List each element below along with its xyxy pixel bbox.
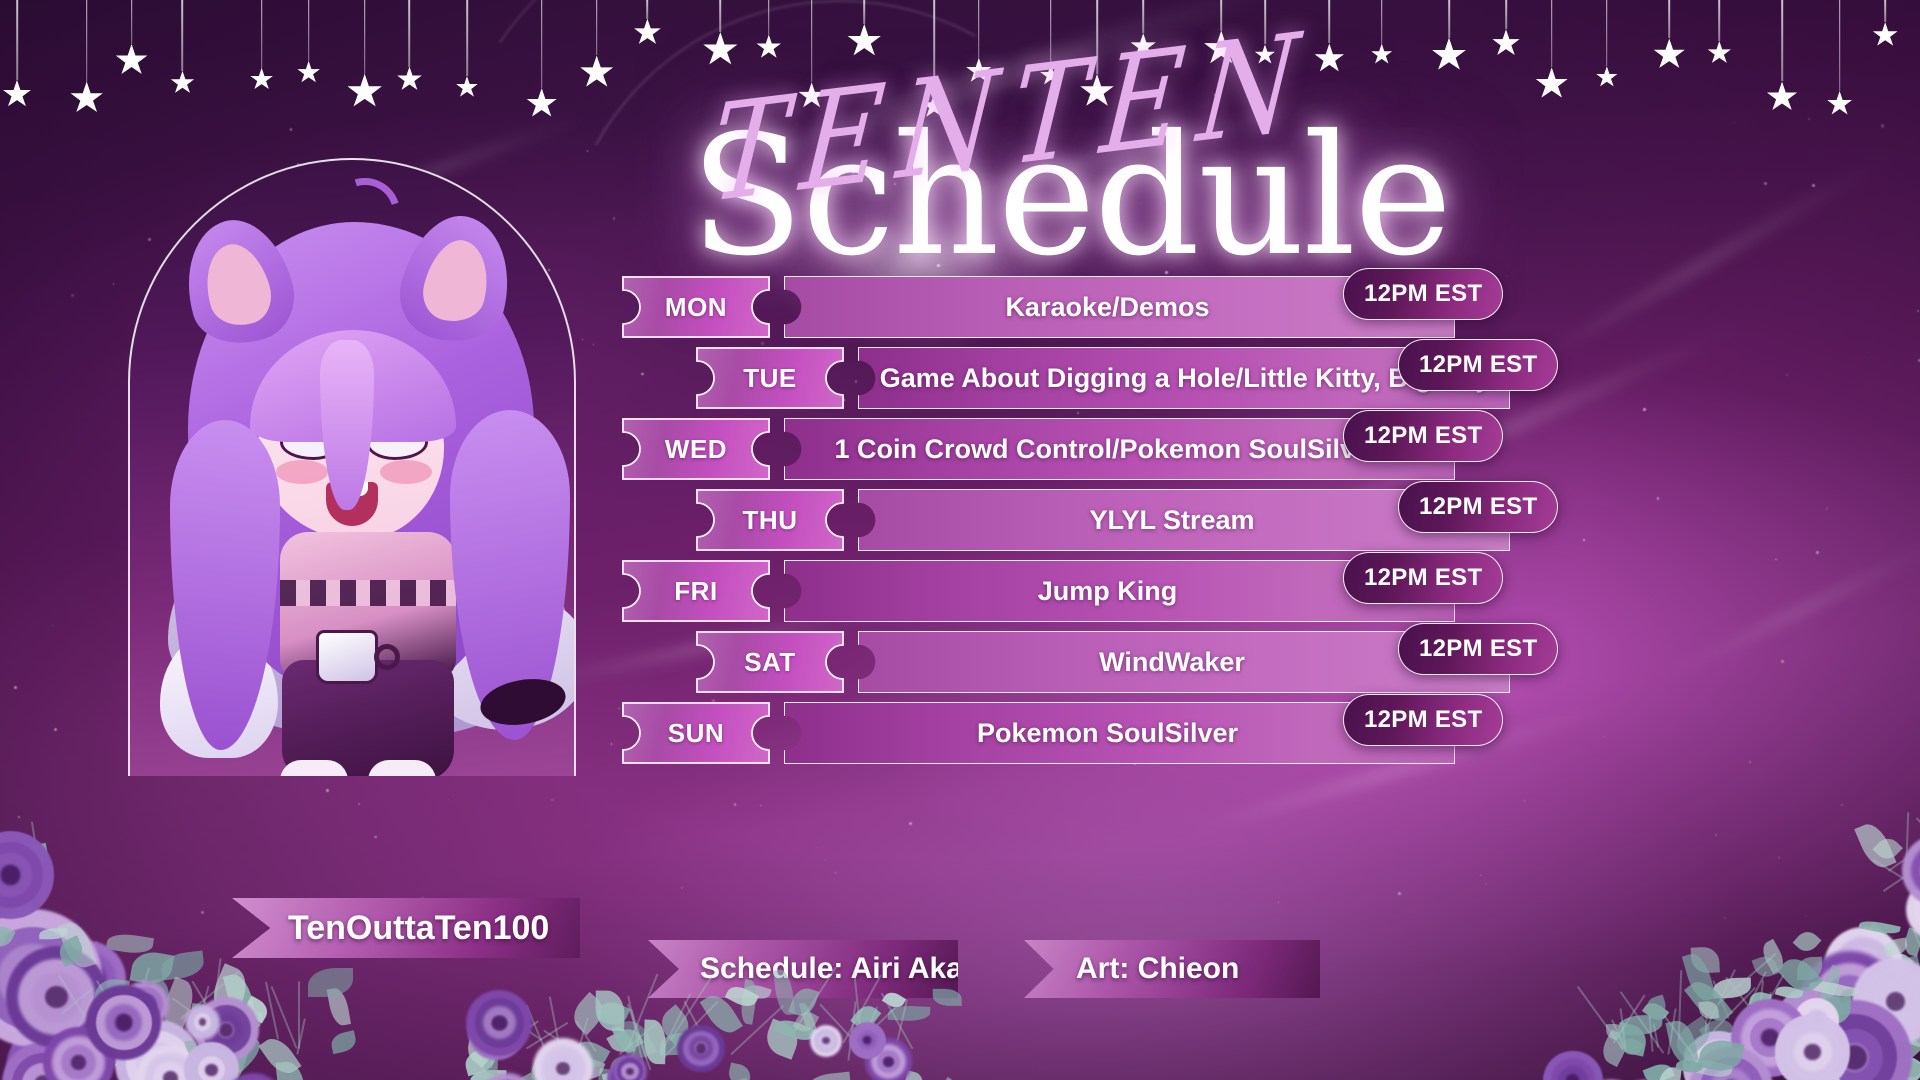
schedule-graphic: TenOuttaTen100 Schedule TENTEN MONKaraok… — [0, 0, 1920, 1080]
schedule-list: MONKaraoke/Demos12PM ESTTUEA Game About … — [0, 0, 1920, 1080]
schedule-row[interactable]: MONKaraoke/Demos12PM EST — [622, 276, 1615, 338]
stream-time: 12PM EST — [1364, 280, 1482, 308]
credit-banner-schedule: Schedule: Airi Akane — [648, 940, 958, 998]
stream-title: WindWaker — [1099, 647, 1245, 678]
schedule-row[interactable]: THUYLYL Stream12PM EST — [696, 489, 1670, 551]
stream-time-pill: 12PM EST — [1343, 694, 1503, 746]
day-label: FRI — [674, 576, 717, 607]
stream-time: 12PM EST — [1364, 706, 1482, 734]
day-label: WED — [665, 434, 727, 465]
stream-time: 12PM EST — [1419, 351, 1537, 379]
day-badge-mon: MON — [622, 276, 770, 338]
day-label: THU — [743, 505, 798, 536]
schedule-row[interactable]: FRIJump King12PM EST — [622, 560, 1615, 622]
day-badge-thu: THU — [696, 489, 844, 551]
stream-title: A Game About Digging a Hole/Little Kitty… — [854, 363, 1491, 394]
day-badge-wed: WED — [622, 418, 770, 480]
day-label: SAT — [744, 647, 796, 678]
credit-label: Schedule: Airi Akane — [700, 952, 998, 986]
credit-label: Art: Chieon — [1076, 952, 1239, 986]
stream-time: 12PM EST — [1364, 422, 1482, 450]
day-badge-sun: SUN — [622, 702, 770, 764]
stream-title: Jump King — [1038, 576, 1178, 607]
stream-time-pill: 12PM EST — [1398, 481, 1558, 533]
stream-time-pill: 12PM EST — [1398, 339, 1558, 391]
schedule-row[interactable]: TUEA Game About Digging a Hole/Little Ki… — [696, 347, 1670, 409]
credit-banner-art: Art: Chieon — [1024, 940, 1320, 998]
stream-title: YLYL Stream — [1089, 505, 1254, 536]
stream-time-pill: 12PM EST — [1398, 623, 1558, 675]
stream-title: 1 Coin Crowd Control/Pokemon SoulSilver — [834, 434, 1380, 465]
stream-time-pill: 12PM EST — [1343, 552, 1503, 604]
stream-time: 12PM EST — [1419, 635, 1537, 663]
day-badge-fri: FRI — [622, 560, 770, 622]
schedule-row[interactable]: SUNPokemon SoulSilver12PM EST — [622, 702, 1615, 764]
day-label: MON — [665, 292, 727, 323]
day-badge-tue: TUE — [696, 347, 844, 409]
stream-time: 12PM EST — [1419, 493, 1537, 521]
day-badge-sat: SAT — [696, 631, 844, 693]
schedule-row[interactable]: SATWindWaker12PM EST — [696, 631, 1670, 693]
schedule-row[interactable]: WED1 Coin Crowd Control/Pokemon SoulSilv… — [622, 418, 1615, 480]
day-label: TUE — [743, 363, 797, 394]
stream-time-pill: 12PM EST — [1343, 268, 1503, 320]
stream-time-pill: 12PM EST — [1343, 410, 1503, 462]
stream-title: Karaoke/Demos — [1005, 292, 1209, 323]
stream-time: 12PM EST — [1364, 564, 1482, 592]
day-label: SUN — [668, 718, 724, 749]
stream-title: Pokemon SoulSilver — [977, 718, 1238, 749]
